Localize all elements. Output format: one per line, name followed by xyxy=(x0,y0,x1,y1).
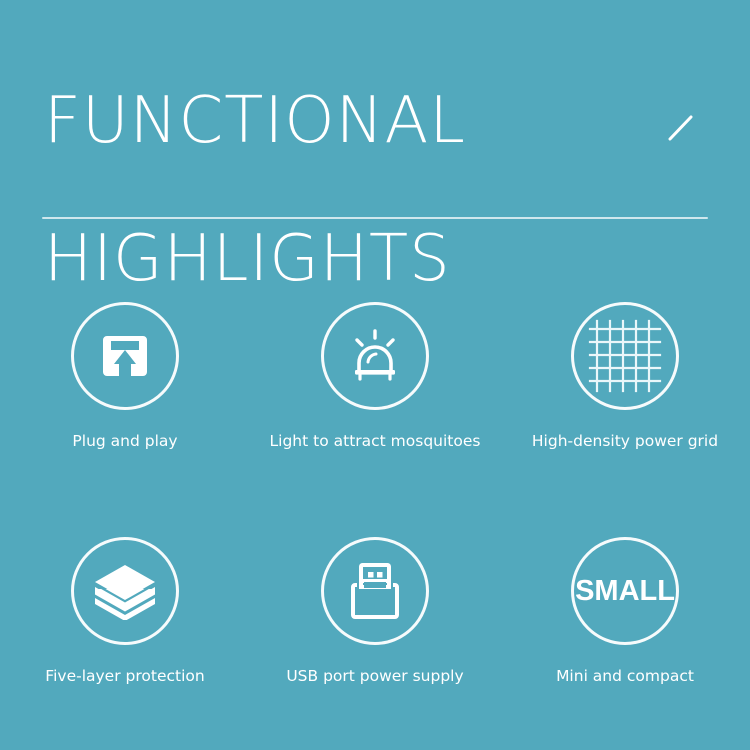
feature-grid: Plug and play Light to attract xyxy=(0,280,750,750)
feature-caption: USB port power supply xyxy=(286,667,463,686)
header: FUNCTIONAL HIGHLIGHTS xyxy=(0,0,750,235)
stacked-layers-icon xyxy=(92,562,158,620)
feature-caption: Plug and play xyxy=(72,432,177,451)
small-label: SMALL xyxy=(575,575,675,607)
feature-caption: Mini and compact xyxy=(556,667,694,686)
feature-item-five-layer: Five-layer protection xyxy=(0,515,250,750)
icon-circle xyxy=(571,302,679,410)
icon-circle xyxy=(321,537,429,645)
small-text-icon: SMALL xyxy=(575,571,675,611)
feature-item-usb-power: USB port power supply xyxy=(250,515,500,750)
feature-caption: High-density power grid xyxy=(532,432,718,451)
usb-connector-icon xyxy=(345,560,405,622)
page-title-line-1: FUNCTIONAL xyxy=(44,87,684,156)
icon-circle xyxy=(71,302,179,410)
icon-circle xyxy=(71,537,179,645)
feature-caption: Five-layer protection xyxy=(45,667,204,686)
feature-item-power-grid: High-density power grid xyxy=(500,280,750,515)
grid-mesh-icon xyxy=(587,318,663,394)
functional-highlights-page: FUNCTIONAL HIGHLIGHTS Plug and play xyxy=(0,0,750,750)
feature-item-light-attract: Light to attract mosquitoes xyxy=(250,280,500,515)
plug-and-play-icon xyxy=(95,326,155,386)
siren-lamp-icon xyxy=(344,326,406,386)
feature-caption: Light to attract mosquitoes xyxy=(270,432,481,451)
icon-circle xyxy=(321,302,429,410)
feature-item-plug-and-play: Plug and play xyxy=(0,280,250,515)
header-divider xyxy=(42,217,708,219)
icon-circle: SMALL xyxy=(571,537,679,645)
feature-item-mini-compact: SMALL Mini and compact xyxy=(500,515,750,750)
